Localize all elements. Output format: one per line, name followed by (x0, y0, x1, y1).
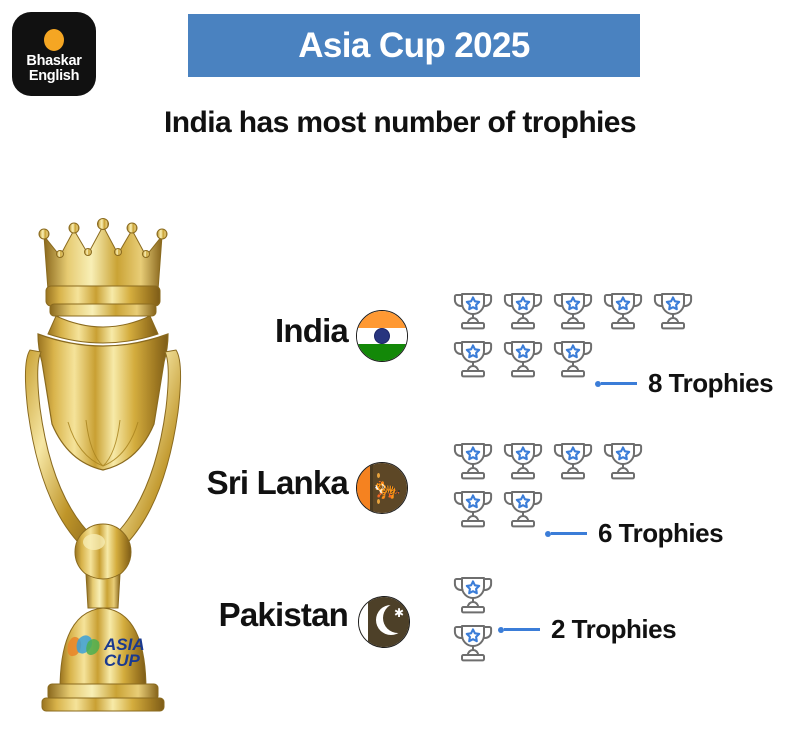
callout-line (504, 628, 540, 630)
trophy-icon (549, 436, 597, 484)
title-banner: Asia Cup 2025 (188, 14, 640, 77)
trophy-icon (449, 334, 497, 382)
india-flag-saffron-band (357, 311, 407, 328)
trophy-icon (599, 286, 647, 334)
country-label-pakistan: Pakistan (219, 596, 348, 633)
callout-line (601, 382, 637, 384)
trophy-icon (449, 484, 497, 532)
trophy-icon (499, 334, 547, 382)
trophy-icon (499, 286, 547, 334)
trophy-icon (449, 436, 497, 484)
banner-title: Asia Cup 2025 (298, 26, 529, 66)
callout-sri-lanka: 6 Trophies (545, 518, 723, 549)
trophy-count-label-pakistan: 2 Trophies (551, 614, 676, 645)
trophy-pictogram-row (449, 436, 659, 484)
bhaskar-english-logo: Bhaskar English (12, 12, 96, 96)
trophy-count-label-india: 8 Trophies (648, 368, 773, 399)
country-label-sri-lanka: Sri Lanka (207, 464, 348, 501)
trophy-icon (549, 334, 597, 382)
trophy-icon (499, 484, 547, 532)
sri-lanka-flag-divider (370, 463, 373, 513)
trophy-count-label-sri-lanka: 6 Trophies (598, 518, 723, 549)
sri-lanka-flag-orange-band (357, 463, 370, 513)
star-icon: ✱ (394, 607, 404, 619)
country-label-pakistan-slot: Pakistan (120, 596, 348, 634)
logo-sun-icon (44, 29, 64, 51)
pakistan-flag-circle-icon: ✱ (358, 596, 410, 648)
pakistan-flag-white-band (359, 597, 368, 647)
country-row-pakistan: Pakistan ✱ 2 Trophies (0, 570, 789, 690)
callout-line (551, 532, 587, 534)
trophy-icon (449, 286, 497, 334)
trophy-icon (499, 436, 547, 484)
trophy-icon (449, 570, 497, 618)
trophy-pictogram-row (449, 570, 509, 618)
trophy-icon (449, 618, 497, 666)
trophy-icon (599, 436, 647, 484)
india-flag-green-band (357, 344, 407, 361)
logo-line-2: English (29, 69, 79, 84)
india-flag-circle-icon (356, 310, 408, 362)
ashoka-chakra-icon (374, 328, 390, 344)
country-row-sri-lanka: Sri Lanka 🐅 6 Trophies (0, 432, 789, 562)
sri-lanka-leaf-icon (377, 473, 380, 478)
logo-line-1: Bhaskar (26, 54, 81, 69)
callout-pakistan: 2 Trophies (498, 614, 676, 645)
trophy-icon (549, 286, 597, 334)
trophy-icon (649, 286, 697, 334)
sri-lanka-leaf-icon (377, 499, 380, 504)
country-label-sri-lanka-slot: Sri Lanka (120, 464, 348, 502)
country-label-india: India (275, 312, 348, 349)
sri-lanka-lion-icon: 🐅 (374, 477, 401, 499)
page-subtitle: India has most number of trophies (150, 104, 650, 142)
sri-lanka-flag-circle-icon: 🐅 (356, 462, 408, 514)
callout-india: 8 Trophies (595, 368, 773, 399)
country-label-india-slot: India (120, 312, 348, 350)
trophy-pictogram-row (449, 286, 709, 334)
country-row-india: India 8 Trophies (0, 280, 789, 410)
